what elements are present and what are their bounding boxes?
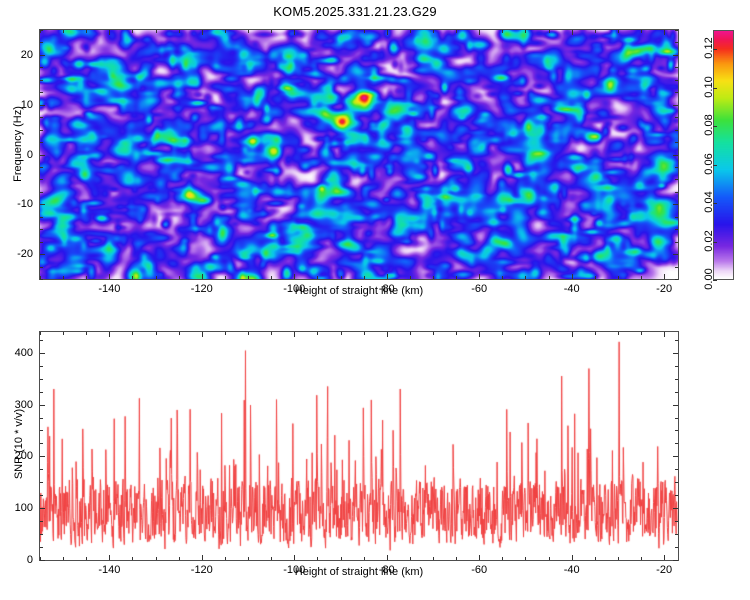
y-major-tick: [673, 508, 678, 509]
x-minor-tick: [63, 276, 64, 279]
y-tick-label: 0: [0, 554, 33, 566]
x-major-tick: [572, 332, 573, 337]
y-minor-tick: [40, 229, 43, 230]
y-minor-tick: [40, 242, 43, 243]
x-minor-tick: [502, 332, 503, 335]
y-minor-tick: [40, 392, 43, 393]
y-major-tick: [40, 105, 45, 106]
x-tick-label: -140: [98, 283, 120, 295]
y-major-tick: [40, 155, 45, 156]
x-major-tick: [202, 274, 203, 279]
y-minor-tick: [675, 366, 678, 367]
y-minor-tick: [40, 192, 43, 193]
y-minor-tick: [675, 547, 678, 548]
x-minor-tick: [641, 276, 642, 279]
x-minor-tick: [456, 332, 457, 335]
x-major-tick: [572, 555, 573, 560]
x-major-tick: [387, 555, 388, 560]
x-major-tick: [572, 274, 573, 279]
snr-x-axis-title: Height of straight line (km): [295, 566, 423, 578]
x-minor-tick: [641, 332, 642, 335]
y-minor-tick: [675, 92, 678, 93]
y-minor-tick: [40, 534, 43, 535]
x-major-tick: [202, 30, 203, 35]
x-major-tick: [572, 30, 573, 35]
x-major-tick: [202, 332, 203, 337]
x-minor-tick: [433, 332, 434, 335]
spectrogram-y-axis-title: Frequency (Hz): [12, 84, 24, 204]
x-minor-tick: [456, 557, 457, 560]
x-minor-tick: [456, 30, 457, 33]
x-minor-tick: [433, 276, 434, 279]
y-major-tick: [40, 456, 45, 457]
y-minor-tick: [675, 340, 678, 341]
y-tick-label: -20: [0, 248, 33, 260]
x-minor-tick: [179, 332, 180, 335]
x-minor-tick: [618, 276, 619, 279]
y-major-tick: [40, 508, 45, 509]
y-minor-tick: [675, 142, 678, 143]
x-minor-tick: [40, 332, 41, 335]
colorbar-tick-label: 0.10: [703, 72, 715, 102]
x-minor-tick: [317, 30, 318, 33]
x-minor-tick: [156, 30, 157, 33]
y-minor-tick: [40, 379, 43, 380]
x-minor-tick: [248, 557, 249, 560]
y-minor-tick: [40, 142, 43, 143]
y-minor-tick: [40, 130, 43, 131]
x-major-tick: [294, 30, 295, 35]
x-minor-tick: [341, 332, 342, 335]
x-minor-tick: [63, 332, 64, 335]
x-major-tick: [664, 555, 665, 560]
x-minor-tick: [618, 557, 619, 560]
y-minor-tick: [675, 469, 678, 470]
y-major-tick: [40, 353, 45, 354]
x-minor-tick: [271, 276, 272, 279]
y-major-tick: [673, 55, 678, 56]
x-minor-tick: [179, 557, 180, 560]
y-minor-tick: [40, 30, 43, 31]
y-major-tick: [40, 405, 45, 406]
y-minor-tick: [40, 443, 43, 444]
y-minor-tick: [40, 547, 43, 548]
x-minor-tick: [410, 557, 411, 560]
y-minor-tick: [675, 267, 678, 268]
y-minor-tick: [675, 192, 678, 193]
x-major-tick: [294, 274, 295, 279]
y-tick-label: 20: [0, 49, 33, 61]
x-major-tick: [109, 332, 110, 337]
x-minor-tick: [595, 30, 596, 33]
y-minor-tick: [40, 482, 43, 483]
x-tick-label: -20: [656, 283, 672, 295]
x-minor-tick: [549, 30, 550, 33]
y-minor-tick: [40, 340, 43, 341]
x-minor-tick: [271, 557, 272, 560]
x-minor-tick: [433, 557, 434, 560]
y-minor-tick: [675, 521, 678, 522]
x-minor-tick: [156, 332, 157, 335]
x-minor-tick: [433, 30, 434, 33]
x-minor-tick: [271, 30, 272, 33]
figure-root: KOM5.2025.331.21.23.G29 -140-120-100-80-…: [0, 0, 750, 600]
y-minor-tick: [675, 67, 678, 68]
x-minor-tick: [525, 557, 526, 560]
colorbar-tick-label: 0.00: [703, 264, 715, 294]
x-major-tick: [387, 30, 388, 35]
x-minor-tick: [364, 30, 365, 33]
y-major-tick: [673, 254, 678, 255]
x-minor-tick: [132, 276, 133, 279]
y-minor-tick: [675, 418, 678, 419]
x-minor-tick: [225, 30, 226, 33]
x-major-tick: [479, 555, 480, 560]
y-minor-tick: [675, 229, 678, 230]
x-minor-tick: [225, 557, 226, 560]
x-tick-label: -140: [98, 564, 120, 576]
x-major-tick: [294, 555, 295, 560]
snr-plot-area: [39, 331, 679, 561]
y-minor-tick: [40, 366, 43, 367]
y-major-tick: [673, 456, 678, 457]
x-tick-label: -40: [564, 283, 580, 295]
y-minor-tick: [40, 92, 43, 93]
y-minor-tick: [675, 217, 678, 218]
y-minor-tick: [675, 42, 678, 43]
x-minor-tick: [179, 30, 180, 33]
snr-line-trace: [40, 332, 678, 560]
y-minor-tick: [40, 418, 43, 419]
x-minor-tick: [549, 557, 550, 560]
x-minor-tick: [317, 276, 318, 279]
x-major-tick: [109, 30, 110, 35]
y-minor-tick: [675, 430, 678, 431]
x-minor-tick: [525, 30, 526, 33]
x-minor-tick: [525, 332, 526, 335]
x-minor-tick: [271, 332, 272, 335]
x-major-tick: [109, 274, 110, 279]
x-minor-tick: [63, 557, 64, 560]
y-minor-tick: [40, 495, 43, 496]
x-major-tick: [479, 30, 480, 35]
x-minor-tick: [364, 557, 365, 560]
x-tick-label: -20: [656, 564, 672, 576]
colorbar-tick-label: 0.12: [703, 33, 715, 63]
y-minor-tick: [675, 30, 678, 31]
x-major-tick: [479, 274, 480, 279]
x-minor-tick: [641, 557, 642, 560]
y-major-tick: [673, 155, 678, 156]
y-major-tick: [673, 204, 678, 205]
y-tick-label: 400: [0, 347, 33, 359]
y-minor-tick: [675, 495, 678, 496]
x-minor-tick: [86, 276, 87, 279]
x-tick-label: -40: [564, 564, 580, 576]
colorbar-tick-label: 0.04: [703, 187, 715, 217]
y-major-tick: [40, 55, 45, 56]
x-minor-tick: [248, 332, 249, 335]
y-minor-tick: [40, 42, 43, 43]
y-minor-tick: [40, 167, 43, 168]
y-major-tick: [40, 254, 45, 255]
x-major-tick: [387, 332, 388, 337]
x-minor-tick: [341, 30, 342, 33]
x-tick-label: -60: [471, 564, 487, 576]
x-minor-tick: [618, 30, 619, 33]
y-minor-tick: [40, 267, 43, 268]
x-minor-tick: [456, 276, 457, 279]
x-major-tick: [664, 332, 665, 337]
y-major-tick: [40, 204, 45, 205]
x-minor-tick: [549, 276, 550, 279]
x-major-tick: [479, 332, 480, 337]
y-minor-tick: [40, 279, 43, 280]
y-minor-tick: [675, 534, 678, 535]
colorbar-tick-label: 0.02: [703, 226, 715, 256]
y-major-tick: [673, 105, 678, 106]
spectrogram-x-axis-title: Height of straight line (km): [295, 285, 423, 297]
x-minor-tick: [502, 557, 503, 560]
y-minor-tick: [675, 443, 678, 444]
y-minor-tick: [675, 179, 678, 180]
x-minor-tick: [248, 276, 249, 279]
x-minor-tick: [86, 332, 87, 335]
y-minor-tick: [40, 67, 43, 68]
spectrogram-image: [40, 30, 678, 279]
x-major-tick: [664, 30, 665, 35]
page-title: KOM5.2025.331.21.23.G29: [0, 4, 710, 19]
x-minor-tick: [132, 332, 133, 335]
x-minor-tick: [364, 276, 365, 279]
y-major-tick: [673, 560, 678, 561]
x-minor-tick: [317, 332, 318, 335]
x-minor-tick: [502, 30, 503, 33]
y-minor-tick: [675, 379, 678, 380]
x-minor-tick: [410, 276, 411, 279]
x-minor-tick: [317, 557, 318, 560]
x-minor-tick: [156, 276, 157, 279]
x-tick-label: -60: [471, 283, 487, 295]
snr-y-axis-title: SNR (10 * v/v): [13, 379, 25, 509]
y-minor-tick: [40, 80, 43, 81]
colorbar-tick-label: 0.06: [703, 149, 715, 179]
x-minor-tick: [86, 557, 87, 560]
y-major-tick: [673, 405, 678, 406]
y-minor-tick: [40, 117, 43, 118]
y-minor-tick: [675, 130, 678, 131]
x-minor-tick: [595, 276, 596, 279]
x-minor-tick: [63, 30, 64, 33]
y-minor-tick: [40, 521, 43, 522]
x-minor-tick: [364, 332, 365, 335]
x-minor-tick: [549, 332, 550, 335]
y-minor-tick: [675, 279, 678, 280]
y-minor-tick: [40, 217, 43, 218]
x-major-tick: [109, 555, 110, 560]
x-minor-tick: [618, 332, 619, 335]
x-major-tick: [294, 332, 295, 337]
x-minor-tick: [595, 332, 596, 335]
x-minor-tick: [595, 557, 596, 560]
y-minor-tick: [675, 167, 678, 168]
y-minor-tick: [40, 179, 43, 180]
x-minor-tick: [156, 557, 157, 560]
x-minor-tick: [525, 276, 526, 279]
x-minor-tick: [225, 332, 226, 335]
x-minor-tick: [132, 557, 133, 560]
x-minor-tick: [248, 30, 249, 33]
x-major-tick: [664, 274, 665, 279]
x-minor-tick: [410, 332, 411, 335]
spectrogram-plot-area: [39, 29, 679, 280]
x-minor-tick: [641, 30, 642, 33]
colorbar-tick-label: 0.08: [703, 110, 715, 140]
y-minor-tick: [675, 242, 678, 243]
y-minor-tick: [40, 430, 43, 431]
x-tick-label: -120: [191, 564, 213, 576]
y-minor-tick: [675, 80, 678, 81]
x-tick-label: -120: [191, 283, 213, 295]
x-minor-tick: [86, 30, 87, 33]
y-minor-tick: [675, 482, 678, 483]
x-minor-tick: [225, 276, 226, 279]
x-minor-tick: [179, 276, 180, 279]
x-minor-tick: [341, 557, 342, 560]
y-minor-tick: [675, 392, 678, 393]
x-minor-tick: [502, 276, 503, 279]
x-minor-tick: [410, 30, 411, 33]
x-minor-tick: [132, 30, 133, 33]
y-major-tick: [673, 353, 678, 354]
x-major-tick: [387, 274, 388, 279]
y-minor-tick: [675, 117, 678, 118]
x-major-tick: [202, 555, 203, 560]
x-minor-tick: [341, 276, 342, 279]
y-minor-tick: [40, 469, 43, 470]
y-major-tick: [40, 560, 45, 561]
